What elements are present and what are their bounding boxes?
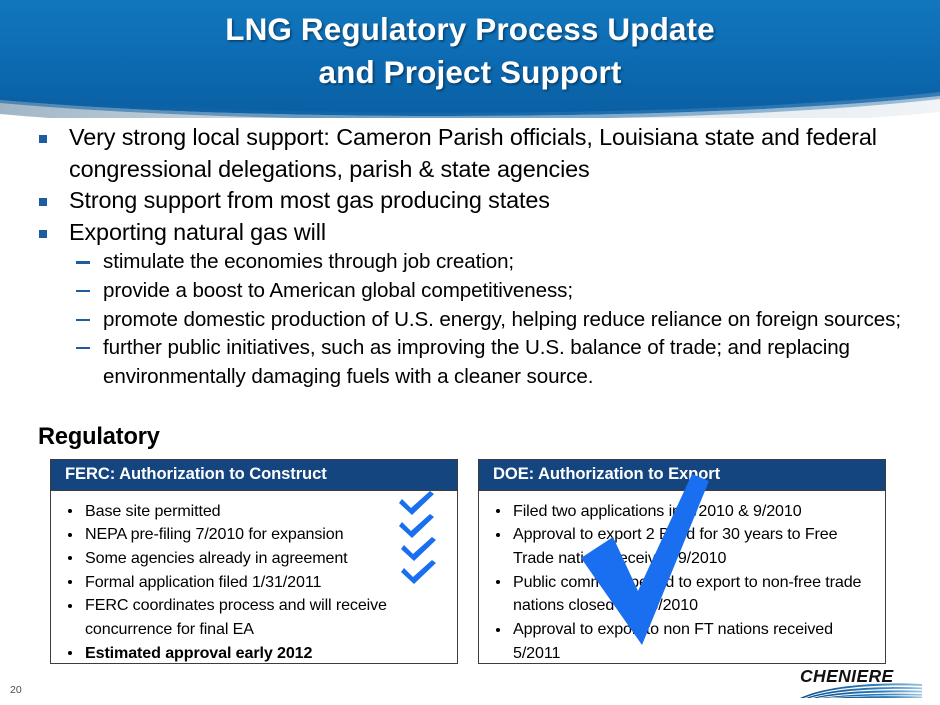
ferc-item-text: Formal application filed 1/31/2011	[85, 573, 321, 591]
doe-item-text: Public comment period to export to non-f…	[513, 573, 861, 615]
dot-bullet-icon	[68, 556, 72, 560]
sub-bullet-text: further public initiatives, such as impr…	[103, 336, 850, 388]
dash-bullet-icon	[76, 290, 90, 292]
bullet-list: Very strong local support: Cameron Paris…	[0, 122, 940, 391]
dot-bullet-icon	[68, 651, 72, 655]
list-item: Approval to export 2 Bcf/d for 30 years …	[489, 523, 877, 570]
bullet-text: Strong support from most gas producing s…	[69, 187, 550, 213]
dot-bullet-icon	[496, 580, 500, 584]
list-item: Approval to export to non FT nations rec…	[489, 618, 877, 665]
doe-box-body: Filed two applications in 8/2010 & 9/201…	[479, 491, 885, 672]
doe-item-text: Filed two applications in 8/2010 & 9/201…	[513, 502, 802, 520]
dot-bullet-icon	[496, 509, 500, 513]
ferc-item-text: Base site permitted	[85, 502, 220, 520]
list-item: promote domestic production of U.S. ener…	[69, 306, 940, 335]
dot-bullet-icon	[496, 533, 500, 537]
ferc-item-text: Estimated approval early 2012	[85, 644, 312, 662]
doe-item-list: Filed two applications in 8/2010 & 9/201…	[489, 500, 877, 666]
list-item: provide a boost to American global compe…	[69, 277, 940, 306]
ferc-box-header: FERC: Authorization to Construct	[51, 460, 457, 491]
list-item: further public initiatives, such as impr…	[69, 334, 940, 391]
dash-bullet-icon	[76, 347, 90, 349]
ferc-item-text: FERC coordinates process and will receiv…	[85, 596, 387, 638]
list-item: Exporting natural gas will	[27, 217, 940, 249]
title-line-2: and Project Support	[0, 51, 940, 94]
ferc-item-text: Some agencies already in agreement	[85, 549, 348, 567]
square-bullet-icon	[39, 135, 47, 143]
dash-bullet-icon	[76, 319, 90, 321]
square-bullet-icon	[39, 230, 47, 238]
ferc-box-body: Base site permitted NEPA pre-filing 7/20…	[51, 491, 457, 672]
sub-bullet-text: stimulate the economies through job crea…	[103, 250, 514, 273]
ferc-box: FERC: Authorization to Construct Base si…	[50, 459, 458, 664]
dot-bullet-icon	[68, 604, 72, 608]
dot-bullet-icon	[496, 628, 500, 632]
bullet-text: Exporting natural gas will	[69, 219, 326, 245]
dot-bullet-icon	[68, 509, 72, 513]
header-banner: LNG Regulatory Process Update and Projec…	[0, 0, 940, 118]
list-item: FERC coordinates process and will receiv…	[61, 594, 449, 641]
logo-swoosh-icon	[798, 683, 930, 700]
bullet-content: Very strong local support: Cameron Paris…	[0, 122, 940, 391]
list-item: Public comment period to export to non-f…	[489, 571, 877, 618]
doe-box: DOE: Authorization to Export Filed two a…	[478, 459, 886, 664]
list-item: Some agencies already in agreement	[61, 547, 449, 571]
sub-bullet-text: provide a boost to American global compe…	[103, 279, 573, 302]
list-item: Filed two applications in 8/2010 & 9/201…	[489, 500, 877, 524]
list-item: Base site permitted	[61, 500, 449, 524]
bullet-text: Very strong local support: Cameron Paris…	[69, 124, 877, 182]
ferc-item-text: NEPA pre-filing 7/2010 for expansion	[85, 525, 343, 543]
title-line-1: LNG Regulatory Process Update	[0, 8, 940, 51]
list-item: Estimated approval early 2012	[61, 642, 449, 666]
sub-bullet-text: promote domestic production of U.S. ener…	[103, 308, 901, 331]
dot-bullet-icon	[68, 533, 72, 537]
doe-item-text: Approval to export to non FT nations rec…	[513, 620, 833, 662]
page-title: LNG Regulatory Process Update and Projec…	[0, 8, 940, 94]
dash-bullet-icon	[76, 261, 90, 263]
regulatory-heading: Regulatory	[38, 424, 160, 451]
doe-item-text: Approval to export 2 Bcf/d for 30 years …	[513, 525, 837, 567]
list-item: Formal application filed 1/31/2011	[61, 571, 449, 595]
ferc-item-list: Base site permitted NEPA pre-filing 7/20…	[61, 500, 449, 666]
sub-bullet-list: stimulate the economies through job crea…	[0, 248, 940, 391]
list-item: Strong support from most gas producing s…	[27, 185, 940, 217]
square-bullet-icon	[39, 198, 47, 206]
list-item: Very strong local support: Cameron Paris…	[27, 122, 940, 185]
list-item: stimulate the economies through job crea…	[69, 248, 940, 277]
list-item: NEPA pre-filing 7/2010 for expansion	[61, 523, 449, 547]
slide: LNG Regulatory Process Update and Projec…	[0, 0, 940, 705]
dot-bullet-icon	[68, 580, 72, 584]
page-number: 20	[10, 684, 22, 696]
doe-box-header: DOE: Authorization to Export	[479, 460, 885, 491]
